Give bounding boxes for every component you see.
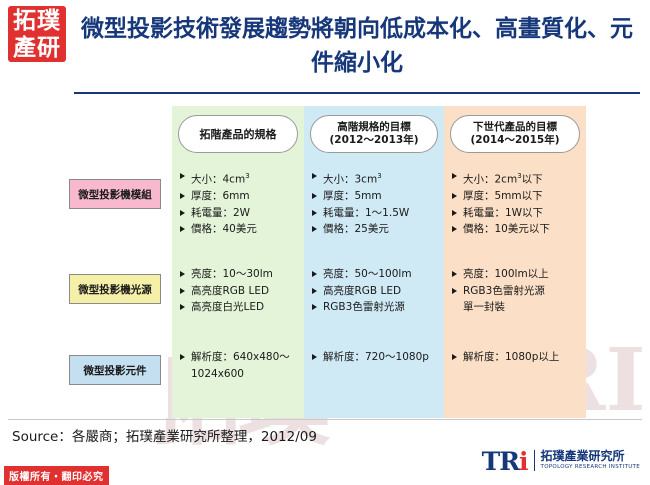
column-header-nextgen-line1: 下世代產品的目標 (473, 121, 557, 134)
page-title: 微型投影技術發展趨勢將朝向低成本化、高畫質化、元件縮小化 (74, 12, 640, 80)
bullet-item: 價格：40美元 (180, 221, 298, 238)
cell-highend-lightsource: 亮度：50～100lm高亮度RGB LEDRGB3色雷射光源 (312, 266, 438, 316)
bullet-item: RGB3色雷射光源 (312, 299, 438, 316)
cell-current-module: 大小：4cm3厚度：6mm耗電量：2W價格：40美元 (180, 168, 298, 238)
bullet-item: 亮度：100lm以上 (452, 266, 580, 283)
tri-logo: 拓璞 產研 (8, 6, 66, 62)
cell-nextgen-component: 解析度：1080p以上 (452, 349, 580, 366)
bullet-item: 1024x600 (180, 366, 298, 383)
cell-highend-component: 解析度：720～1080p (312, 349, 438, 366)
cell-highend-module: 大小：3cm3厚度：5mm耗電量：1～1.5W價格：25美元 (312, 168, 438, 238)
bullet-item: 厚度：5mm以下 (452, 188, 580, 205)
column-header-highend: 高階規格的目標 (2012～2013年) (310, 115, 438, 153)
cell-current-component: 解析度：640x480～1024x600 (180, 349, 298, 382)
bullet-item: 耗電量：2W (180, 205, 298, 222)
bullet-item: 單一封裝 (452, 299, 580, 316)
tri-footer-names: 拓璞產業研究所 TOPOLOGY RESEARCH INSTITUTE (534, 450, 640, 471)
column-header-current-line1: 拓階產品的規格 (200, 128, 277, 141)
copyright-badge: 版權所有・翻印必究 (4, 466, 109, 485)
table-column-nextgen: 下世代產品的目標 (2014～2015年) 大小：2cm3以下厚度：5mm以下耗… (444, 106, 586, 418)
column-header-nextgen: 下世代產品的目標 (2014～2015年) (450, 115, 580, 153)
table-column-highend: 高階規格的目標 (2012～2013年) 大小：3cm3厚度：5mm耗電量：1～… (304, 106, 444, 418)
column-header-highend-line2: (2012～2013年) (329, 134, 418, 147)
tri-name-cn: 拓璞產業研究所 (541, 450, 640, 463)
bullet-item: 解析度：720～1080p (312, 349, 438, 366)
logo-line-1: 拓璞 (8, 7, 66, 34)
column-header-current: 拓階產品的規格 (178, 115, 298, 153)
bullet-item: 價格：25美元 (312, 221, 438, 238)
bullet-item: 解析度：1080p以上 (452, 349, 580, 366)
tri-wordmark: TRi (482, 450, 528, 474)
bullet-item: 耗電量：1～1.5W (312, 205, 438, 222)
logo-line-2: 產研 (8, 34, 66, 61)
cell-nextgen-module: 大小：2cm3以下厚度：5mm以下耗電量：1W以下價格：10美元以下 (452, 168, 580, 238)
column-header-highend-line1: 高階規格的目標 (337, 121, 411, 134)
bullet-item: RGB3色雷射光源 (452, 283, 580, 300)
bullet-item: 解析度：640x480～ (180, 349, 298, 366)
table-column-labels: 微型投影機模組 微型投影機光源 微型投影元件 (62, 106, 168, 418)
table-column-current: 拓階產品的規格 大小：4cm3厚度：6mm耗電量：2W價格：40美元 亮度：10… (172, 106, 304, 418)
cell-current-lightsource: 亮度：10～30lm高亮度RGB LED高亮度白光LED (180, 266, 298, 316)
cell-nextgen-lightsource: 亮度：100lm以上RGB3色雷射光源單一封裝 (452, 266, 580, 316)
row-label-module: 微型投影機模組 (69, 179, 161, 209)
column-header-nextgen-line2: (2014～2015年) (470, 134, 559, 147)
tri-footer-logo: TRi 拓璞產業研究所 TOPOLOGY RESEARCH INSTITUTE (482, 450, 640, 474)
bullet-item: 大小：3cm3 (312, 168, 438, 188)
bullet-item: 耗電量：1W以下 (452, 205, 580, 222)
bullet-item: 大小：4cm3 (180, 168, 298, 188)
bullet-item: 高亮度RGB LED (180, 283, 298, 300)
bullet-item: 厚度：6mm (180, 188, 298, 205)
bullet-item: 亮度：10～30lm (180, 266, 298, 283)
title-divider (74, 92, 640, 94)
bullet-item: 厚度：5mm (312, 188, 438, 205)
row-label-component: 微型投影元件 (69, 355, 161, 385)
bullet-item: 大小：2cm3以下 (452, 168, 580, 188)
row-label-lightsource: 微型投影機光源 (69, 274, 161, 304)
bullet-item: 高亮度白光LED (180, 299, 298, 316)
bullet-item: 亮度：50～100lm (312, 266, 438, 283)
source-divider (8, 419, 642, 420)
bullet-item: 高亮度RGB LED (312, 283, 438, 300)
spec-table: 微型投影機模組 微型投影機光源 微型投影元件 拓階產品的規格 大小：4cm3厚度… (62, 106, 586, 418)
source-note: Source：各嚴商；拓璞產業研究所整理，2012/09 (12, 425, 317, 445)
tri-name-en: TOPOLOGY RESEARCH INSTITUTE (541, 463, 640, 471)
bullet-item: 價格：10美元以下 (452, 221, 580, 238)
